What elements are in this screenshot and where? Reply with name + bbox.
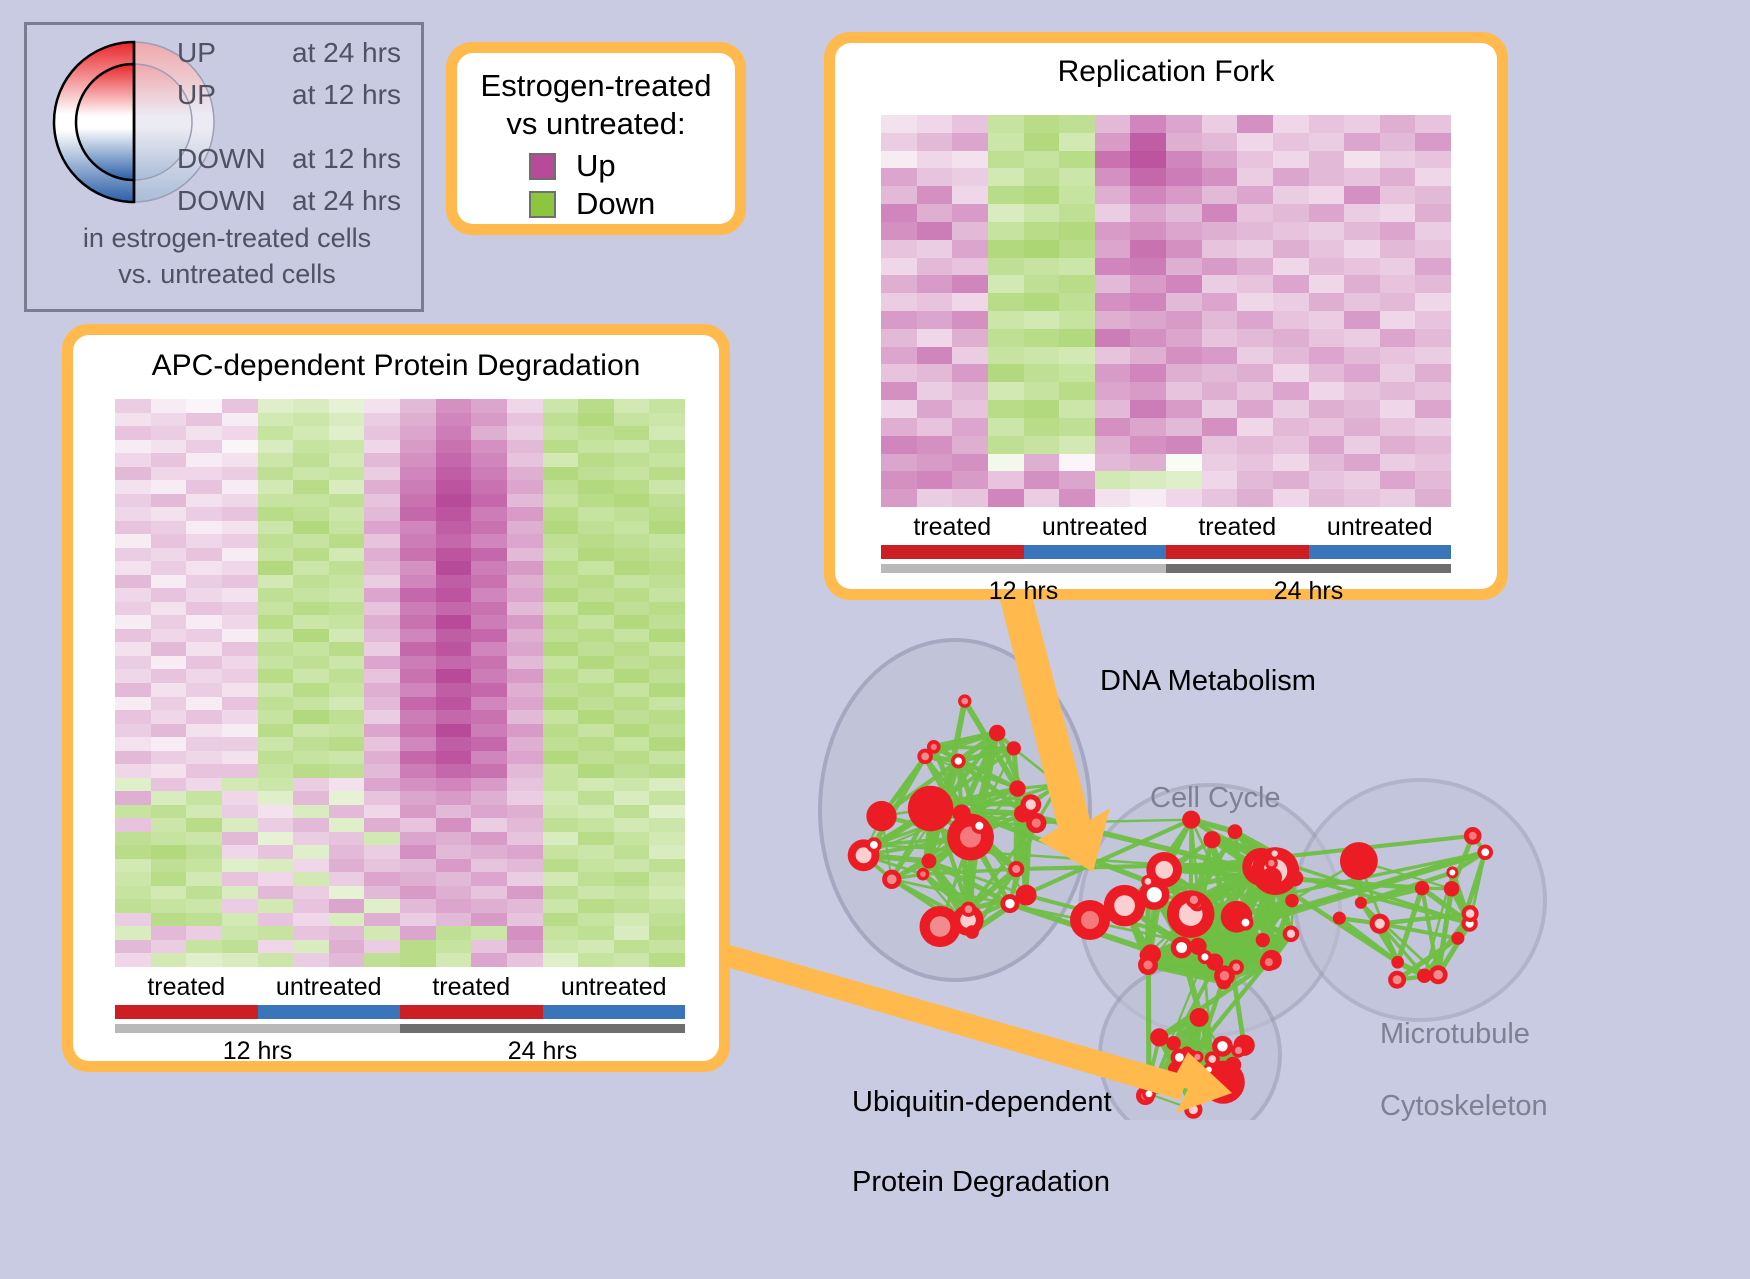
heatmap-cell xyxy=(258,872,294,886)
heatmap-cell xyxy=(293,669,329,683)
heatmap-cell xyxy=(952,347,988,365)
heatmap-cell xyxy=(186,926,222,940)
heatmap-cell xyxy=(614,737,650,751)
heatmap-cell xyxy=(614,791,650,805)
heatmap-cell xyxy=(1095,347,1131,365)
heatmap-cell xyxy=(543,859,579,873)
heatmap-cell xyxy=(578,926,614,940)
heatmap-cell xyxy=(988,240,1024,258)
heatmap-cell xyxy=(151,561,187,575)
heatmap-cell xyxy=(329,751,365,765)
heatmap-cell xyxy=(258,602,294,616)
heatmap-cell xyxy=(186,534,222,548)
heatmap-cell xyxy=(543,886,579,900)
heatmap-cell xyxy=(507,724,543,738)
heatmap-cell xyxy=(1309,151,1345,169)
heatmap-cell xyxy=(258,548,294,562)
colorbar-segment xyxy=(115,1005,258,1019)
heatmap-cell xyxy=(115,588,151,602)
heatmap-cell xyxy=(258,913,294,927)
heatmap-cell xyxy=(578,940,614,954)
heatmap-cell xyxy=(258,480,294,494)
heatmap-cell xyxy=(400,561,436,575)
heatmap-cell xyxy=(364,413,400,427)
heatmap-cell xyxy=(471,886,507,900)
heatmap-cell xyxy=(258,440,294,454)
network-node-core xyxy=(1201,953,1208,960)
heatmap-cell xyxy=(151,494,187,508)
heatmap-cell xyxy=(293,683,329,697)
heatmap-cell xyxy=(293,629,329,643)
heatmap-cell xyxy=(471,588,507,602)
heatmap-cell xyxy=(649,642,685,656)
heatmap-cell xyxy=(507,953,543,967)
heatmap-cell xyxy=(881,186,917,204)
network-node-core xyxy=(1194,1054,1200,1060)
heatmap-cell xyxy=(258,615,294,629)
heatmap-cell xyxy=(436,737,472,751)
network-node-core xyxy=(1469,832,1477,840)
heatmap-cell xyxy=(917,400,953,418)
caption-line-2: vs. untreated cells xyxy=(27,256,427,292)
heatmap-cell xyxy=(1130,400,1166,418)
heatmap-cell xyxy=(1415,489,1451,507)
network-node-core xyxy=(1466,909,1474,917)
heatmap-cell xyxy=(1380,293,1416,311)
heatmap-cell xyxy=(1024,311,1060,329)
heatmap-cell xyxy=(258,494,294,508)
heatmap-cell xyxy=(400,818,436,832)
heatmap-cell xyxy=(1237,436,1273,454)
heatmap-cell xyxy=(186,507,222,521)
colorwheel-legend-rows: UP at 24 hrs UP at 12 hrs DOWN at 12 hrs… xyxy=(177,37,427,227)
heatmap-cell xyxy=(543,588,579,602)
heatmap-cell xyxy=(222,642,258,656)
network-node xyxy=(1228,824,1243,839)
heatmap-cell xyxy=(329,899,365,913)
heatmap-cell xyxy=(1166,454,1202,472)
heatmap-cell xyxy=(1415,293,1451,311)
heatmap-cell xyxy=(186,778,222,792)
heatmap-cell xyxy=(436,642,472,656)
heatmap-cell xyxy=(1059,186,1095,204)
heatmap-cell xyxy=(329,602,365,616)
heatmap-cell xyxy=(400,521,436,535)
heatmap-cell xyxy=(578,656,614,670)
network-node xyxy=(1355,897,1367,909)
heatmap-cell xyxy=(1309,454,1345,472)
heatmap-cell xyxy=(1166,293,1202,311)
heatmap-cell xyxy=(578,467,614,481)
network-node-core xyxy=(1433,970,1442,979)
heatmap-cell xyxy=(436,453,472,467)
heatmap-cell xyxy=(115,818,151,832)
heatmap-cell xyxy=(364,642,400,656)
replication-fork-panel: Replication Fork treated untreated treat… xyxy=(824,32,1508,600)
updown-title-line-1: Estrogen-treated xyxy=(457,67,735,105)
heatmap-cell xyxy=(649,778,685,792)
heatmap-cell xyxy=(543,818,579,832)
heatmap-cell xyxy=(364,926,400,940)
heatmap-cell xyxy=(578,697,614,711)
heatmap-cell xyxy=(151,724,187,738)
heatmap-cell xyxy=(471,926,507,940)
heatmap-cell xyxy=(1309,364,1345,382)
heatmap-cell xyxy=(471,507,507,521)
legend-key: DOWN xyxy=(177,185,292,217)
heatmap-cell xyxy=(1237,329,1273,347)
network-node xyxy=(1340,842,1378,880)
heatmap-cell xyxy=(1095,489,1131,507)
heatmap-cell xyxy=(578,561,614,575)
heatmap-cell xyxy=(258,751,294,765)
heatmap-cell xyxy=(543,764,579,778)
heatmap-cell xyxy=(436,899,472,913)
heatmap-cell xyxy=(507,764,543,778)
heatmap-cell xyxy=(471,467,507,481)
heatmap-cell xyxy=(151,886,187,900)
heatmap-cell xyxy=(258,940,294,954)
heatmap-cell xyxy=(543,832,579,846)
heatmap-cell xyxy=(115,791,151,805)
heatmap-cell xyxy=(364,656,400,670)
heatmap-cell xyxy=(329,710,365,724)
down-color-swatch xyxy=(529,191,556,218)
heatmap-cell xyxy=(115,399,151,413)
heatmap-cell xyxy=(1095,168,1131,186)
heatmap-cell xyxy=(649,426,685,440)
heatmap-cell xyxy=(364,683,400,697)
heatmap-cell xyxy=(115,724,151,738)
heatmap-cell xyxy=(578,480,614,494)
heatmap-cell xyxy=(507,656,543,670)
heatmap-cell xyxy=(1380,418,1416,436)
updown-item-up: Up xyxy=(529,147,735,185)
heatmap-cell xyxy=(614,669,650,683)
heatmap-cell xyxy=(507,507,543,521)
heatmap-cell xyxy=(258,845,294,859)
heatmap-cell xyxy=(293,399,329,413)
heatmap-cell xyxy=(952,275,988,293)
heatmap-cell xyxy=(578,791,614,805)
heatmap-cell xyxy=(329,480,365,494)
heatmap-cell xyxy=(1237,186,1273,204)
heatmap-cell xyxy=(988,471,1024,489)
heatmap-cell xyxy=(1273,400,1309,418)
heatmap-cell xyxy=(917,382,953,400)
heatmap-cell xyxy=(329,467,365,481)
heatmap-cell xyxy=(471,778,507,792)
heatmap-cell xyxy=(1415,471,1451,489)
heatmap-cell xyxy=(1202,115,1238,133)
heatmap-cell xyxy=(614,872,650,886)
heatmap-cell xyxy=(917,275,953,293)
heatmap-cell xyxy=(364,453,400,467)
rf-group-label: treated xyxy=(881,513,1024,542)
heatmap-cell xyxy=(364,899,400,913)
heatmap-cell xyxy=(364,507,400,521)
heatmap-cell xyxy=(436,656,472,670)
heatmap-cell xyxy=(1095,382,1131,400)
heatmap-cell xyxy=(507,521,543,535)
heatmap-cell xyxy=(1166,489,1202,507)
heatmap-cell xyxy=(578,615,614,629)
heatmap-cell xyxy=(649,913,685,927)
heatmap-cell xyxy=(151,818,187,832)
heatmap-cell xyxy=(151,467,187,481)
network-node xyxy=(1451,932,1464,945)
heatmap-cell xyxy=(1059,382,1095,400)
heatmap-cell xyxy=(917,151,953,169)
network-node xyxy=(1287,870,1303,886)
heatmap-cell xyxy=(507,832,543,846)
network-node-core xyxy=(1235,1047,1242,1054)
heatmap-cell xyxy=(649,751,685,765)
heatmap-cell xyxy=(1237,347,1273,365)
heatmap-cell xyxy=(881,133,917,151)
heatmap-cell xyxy=(1202,400,1238,418)
heatmap-cell xyxy=(917,240,953,258)
heatmap-cell xyxy=(293,710,329,724)
heatmap-cell xyxy=(507,399,543,413)
network-node xyxy=(1285,894,1299,908)
heatmap-cell xyxy=(471,953,507,967)
heatmap-cell xyxy=(1344,471,1380,489)
heatmap-cell xyxy=(881,382,917,400)
heatmap-cell xyxy=(436,534,472,548)
heatmap-cell xyxy=(115,480,151,494)
heatmap-cell xyxy=(471,534,507,548)
heatmap-cell xyxy=(1237,364,1273,382)
heatmap-cell xyxy=(614,778,650,792)
heatmap-cell xyxy=(364,467,400,481)
heatmap-cell xyxy=(1130,240,1166,258)
heatmap-cell xyxy=(614,805,650,819)
heatmap-cell xyxy=(1415,400,1451,418)
heatmap-cell xyxy=(258,453,294,467)
heatmap-cell xyxy=(293,859,329,873)
heatmap-cell xyxy=(329,940,365,954)
heatmap-cell xyxy=(1059,454,1095,472)
network-node-core xyxy=(1081,911,1099,929)
heatmap-cell xyxy=(1095,364,1131,382)
heatmap-cell xyxy=(115,656,151,670)
heatmap-cell xyxy=(917,454,953,472)
heatmap-cell xyxy=(329,575,365,589)
heatmap-cell xyxy=(186,886,222,900)
heatmap-cell xyxy=(578,588,614,602)
heatmap-cell xyxy=(1380,168,1416,186)
heatmap-cell xyxy=(115,669,151,683)
heatmap-cell xyxy=(1095,275,1131,293)
heatmap-cell xyxy=(1059,364,1095,382)
heatmap-cell xyxy=(258,588,294,602)
heatmap-cell xyxy=(436,697,472,711)
heatmap-cell xyxy=(115,778,151,792)
heatmap-cell xyxy=(222,602,258,616)
legend-key: DOWN xyxy=(177,143,292,175)
heatmap-cell xyxy=(329,656,365,670)
heatmap-cell xyxy=(436,832,472,846)
heatmap-cell xyxy=(543,697,579,711)
heatmap-cell xyxy=(258,710,294,724)
heatmap-cell xyxy=(507,751,543,765)
heatmap-cell xyxy=(881,329,917,347)
heatmap-cell xyxy=(1202,151,1238,169)
network-node-core xyxy=(1145,878,1152,885)
heatmap-cell xyxy=(1344,133,1380,151)
heatmap-cell xyxy=(293,507,329,521)
heatmap-cell xyxy=(115,764,151,778)
heatmap-cell xyxy=(988,489,1024,507)
heatmap-cell xyxy=(329,642,365,656)
heatmap-cell xyxy=(507,899,543,913)
heatmap-cell xyxy=(649,940,685,954)
heatmap-cell xyxy=(1024,222,1060,240)
colorbar-segment xyxy=(1166,545,1309,559)
heatmap-cell xyxy=(258,426,294,440)
heatmap-cell xyxy=(293,953,329,967)
heatmap-cell xyxy=(1344,364,1380,382)
heatmap-cell xyxy=(649,845,685,859)
colorwheel-legend-box: UP at 24 hrs UP at 12 hrs DOWN at 12 hrs… xyxy=(24,22,424,312)
heatmap-cell xyxy=(1380,133,1416,151)
heatmap-cell xyxy=(222,615,258,629)
heatmap-cell xyxy=(1202,364,1238,382)
heatmap-cell xyxy=(293,926,329,940)
heatmap-cell xyxy=(614,710,650,724)
heatmap-cell xyxy=(186,399,222,413)
heatmap-cell xyxy=(293,845,329,859)
replication-fork-title: Replication Fork xyxy=(835,55,1497,89)
heatmap-cell xyxy=(222,534,258,548)
heatmap-cell xyxy=(988,186,1024,204)
network-node-core xyxy=(1265,958,1273,966)
rf-group-colorbar xyxy=(881,545,1451,559)
heatmap-cell xyxy=(222,940,258,954)
heatmap-cell xyxy=(578,642,614,656)
heatmap-cell xyxy=(186,805,222,819)
heatmap-cell xyxy=(258,859,294,873)
heatmap-cell xyxy=(329,737,365,751)
heatmap-cell xyxy=(1344,311,1380,329)
heatmap-cell xyxy=(258,899,294,913)
heatmap-cell xyxy=(917,168,953,186)
heatmap-cell xyxy=(222,710,258,724)
heatmap-cell xyxy=(293,656,329,670)
heatmap-cell xyxy=(952,329,988,347)
heatmap-cell xyxy=(1380,471,1416,489)
heatmap-cell xyxy=(1415,311,1451,329)
heatmap-cell xyxy=(293,791,329,805)
heatmap-cell xyxy=(329,507,365,521)
heatmap-cell xyxy=(222,886,258,900)
heatmap-cell xyxy=(186,899,222,913)
heatmap-cell xyxy=(115,494,151,508)
heatmap-cell xyxy=(400,697,436,711)
heatmap-cell xyxy=(115,453,151,467)
heatmap-cell xyxy=(1059,133,1095,151)
heatmap-cell xyxy=(293,467,329,481)
network-node xyxy=(1166,1036,1181,1051)
heatmap-cell xyxy=(186,426,222,440)
heatmap-cell xyxy=(614,440,650,454)
heatmap-cell xyxy=(988,454,1024,472)
heatmap-cell xyxy=(186,710,222,724)
heatmap-cell xyxy=(1309,275,1345,293)
heatmap-cell xyxy=(186,588,222,602)
heatmap-cell xyxy=(186,467,222,481)
heatmap-cell xyxy=(329,832,365,846)
heatmap-cell xyxy=(1202,204,1238,222)
heatmap-cell xyxy=(329,669,365,683)
heatmap-cell xyxy=(1273,240,1309,258)
heatmap-cell xyxy=(115,575,151,589)
up-label: Up xyxy=(576,148,616,184)
heatmap-cell xyxy=(952,382,988,400)
heatmap-cell xyxy=(952,115,988,133)
heatmap-cell xyxy=(1309,436,1345,454)
heatmap-cell xyxy=(293,602,329,616)
heatmap-cell xyxy=(329,953,365,967)
heatmap-cell xyxy=(988,382,1024,400)
heatmap-cell xyxy=(400,859,436,873)
heatmap-cell xyxy=(471,791,507,805)
heatmap-cell xyxy=(222,683,258,697)
heatmap-cell xyxy=(293,899,329,913)
heatmap-cell xyxy=(1273,454,1309,472)
heatmap-cell xyxy=(364,710,400,724)
heatmap-cell xyxy=(614,426,650,440)
heatmap-cell xyxy=(881,454,917,472)
heatmap-cell xyxy=(436,602,472,616)
heatmap-cell xyxy=(1095,133,1131,151)
heatmap-cell xyxy=(614,940,650,954)
heatmap-cell xyxy=(1237,454,1273,472)
heatmap-cell xyxy=(1059,222,1095,240)
network-node-core xyxy=(1054,779,1064,789)
heatmap-cell xyxy=(649,494,685,508)
heatmap-cell xyxy=(222,656,258,670)
heatmap-cell xyxy=(436,521,472,535)
heatmap-cell xyxy=(400,737,436,751)
heatmap-cell xyxy=(1309,471,1345,489)
heatmap-cell xyxy=(1309,222,1345,240)
heatmap-cell xyxy=(917,133,953,151)
heatmap-cell xyxy=(1024,258,1060,276)
heatmap-cell xyxy=(436,561,472,575)
heatmap-cell xyxy=(1024,418,1060,436)
heatmap-cell xyxy=(1273,204,1309,222)
heatmap-cell xyxy=(578,859,614,873)
heatmap-cell xyxy=(1344,115,1380,133)
heatmap-cell xyxy=(543,521,579,535)
heatmap-cell xyxy=(1202,133,1238,151)
network-edge xyxy=(945,803,1031,805)
heatmap-cell xyxy=(471,642,507,656)
heatmap-cell xyxy=(1344,204,1380,222)
heatmap-cell xyxy=(364,724,400,738)
heatmap-cell xyxy=(471,845,507,859)
heatmap-cell xyxy=(329,778,365,792)
heatmap-cell xyxy=(1273,347,1309,365)
heatmap-cell xyxy=(1309,258,1345,276)
network-node-core xyxy=(1026,799,1036,809)
heatmap-cell xyxy=(1380,382,1416,400)
network-node-core xyxy=(887,874,897,884)
heatmap-cell xyxy=(400,710,436,724)
legend-key: UP xyxy=(177,37,292,69)
